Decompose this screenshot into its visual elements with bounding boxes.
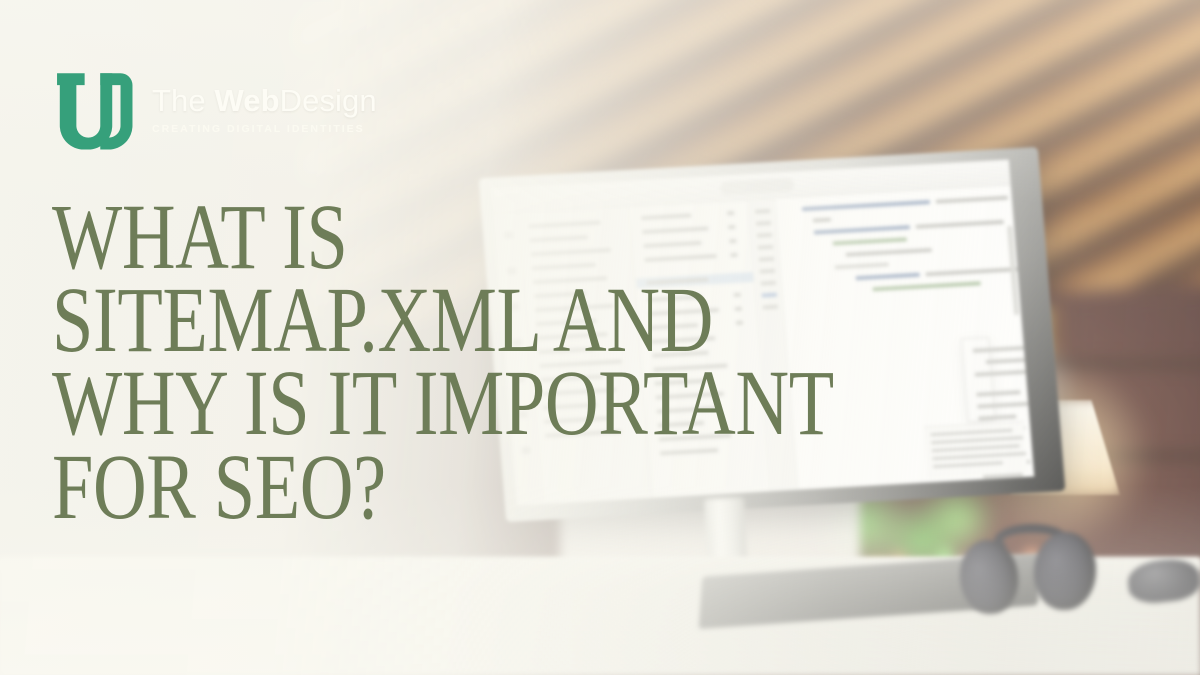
page-title: WHAT IS SITEMAP.XML AND WHY IS IT IMPORT… <box>52 196 1052 529</box>
logo-word-design: Design <box>280 83 377 118</box>
headline-line-1: WHAT IS <box>52 196 852 279</box>
logo-title: The WebDesign <box>152 85 377 118</box>
headline-line-2: SITEMAP.XML AND <box>52 279 852 362</box>
logo-tagline: CREATING DIGITAL IDENTITIES <box>152 123 377 135</box>
headline-line-4: FOR SEO? <box>52 446 852 529</box>
logo-wordmark: The WebDesign CREATING DIGITAL IDENTITIE… <box>152 85 377 135</box>
twd-monogram-icon <box>46 64 138 156</box>
brand-logo[interactable]: The WebDesign CREATING DIGITAL IDENTITIE… <box>46 64 377 156</box>
banner-content: The WebDesign CREATING DIGITAL IDENTITIE… <box>0 0 1200 675</box>
logo-word-web: Web <box>214 83 279 118</box>
logo-word-the: The <box>152 83 214 118</box>
blog-banner: The WebDesign CREATING DIGITAL IDENTITIE… <box>0 0 1200 675</box>
headline-line-3: WHY IS IT IMPORTANT <box>52 362 852 445</box>
